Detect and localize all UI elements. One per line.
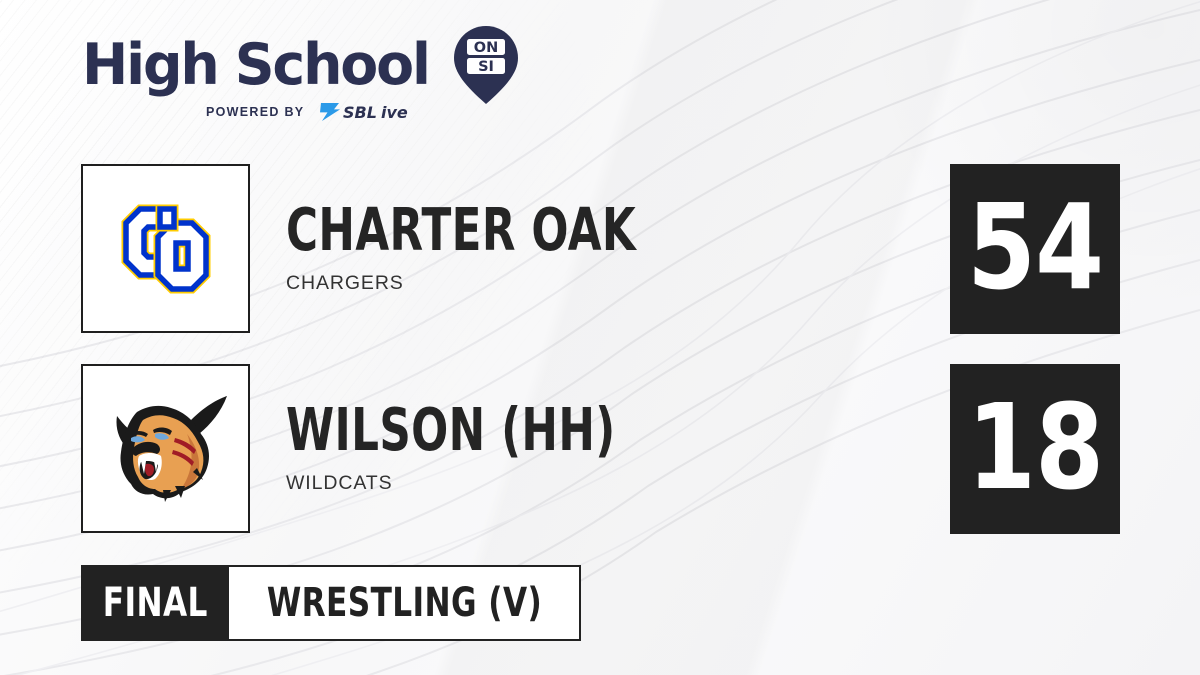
team-score: 54 [967, 188, 1103, 310]
team-row: WILSON (HH) WILDCATS 18 [0, 364, 1200, 536]
brand-header: High School ON SI POWERED BY SBL [82, 34, 512, 139]
wilson-wildcat-head-icon [103, 390, 229, 508]
svg-text:ive: ive [381, 103, 408, 122]
team-score-box: 18 [950, 364, 1120, 534]
charter-oak-co-monogram-icon [114, 197, 218, 301]
brand-logo-row: High School ON SI [82, 34, 512, 96]
team-row: CHARTER OAK CHARGERS 54 [0, 164, 1200, 336]
team-score: 18 [967, 388, 1103, 510]
svg-text:SBL: SBL [343, 103, 377, 122]
on-si-pin-icon: ON SI [452, 24, 520, 106]
team-name: CHARTER OAK [286, 202, 636, 259]
status-bar: FINAL WRESTLING (V) [81, 565, 581, 641]
team-name: WILSON (HH) [286, 402, 616, 459]
svg-text:ON: ON [473, 40, 497, 56]
powered-by-label: POWERED BY [206, 105, 304, 119]
team-text-block: CHARTER OAK CHARGERS [286, 164, 759, 333]
team-logo-box [81, 364, 250, 533]
team-mascot: WILDCATS [286, 472, 731, 495]
game-status-label: FINAL [102, 580, 207, 626]
team-text-block: WILSON (HH) WILDCATS [286, 364, 731, 533]
team-logo-box [81, 164, 250, 333]
svg-text:SI: SI [478, 59, 494, 75]
brand-wordmark: High School [82, 37, 429, 94]
sport-label-box: WRESTLING (V) [229, 565, 581, 641]
sport-label: WRESTLING (V) [266, 580, 541, 626]
sblive-logo-icon: SBL ive [313, 101, 431, 123]
game-status-badge: FINAL [81, 565, 229, 641]
team-score-box: 54 [950, 164, 1120, 334]
scoreboard-graphic: High School ON SI POWERED BY SBL [0, 0, 1200, 675]
team-mascot: CHARGERS [286, 272, 759, 295]
